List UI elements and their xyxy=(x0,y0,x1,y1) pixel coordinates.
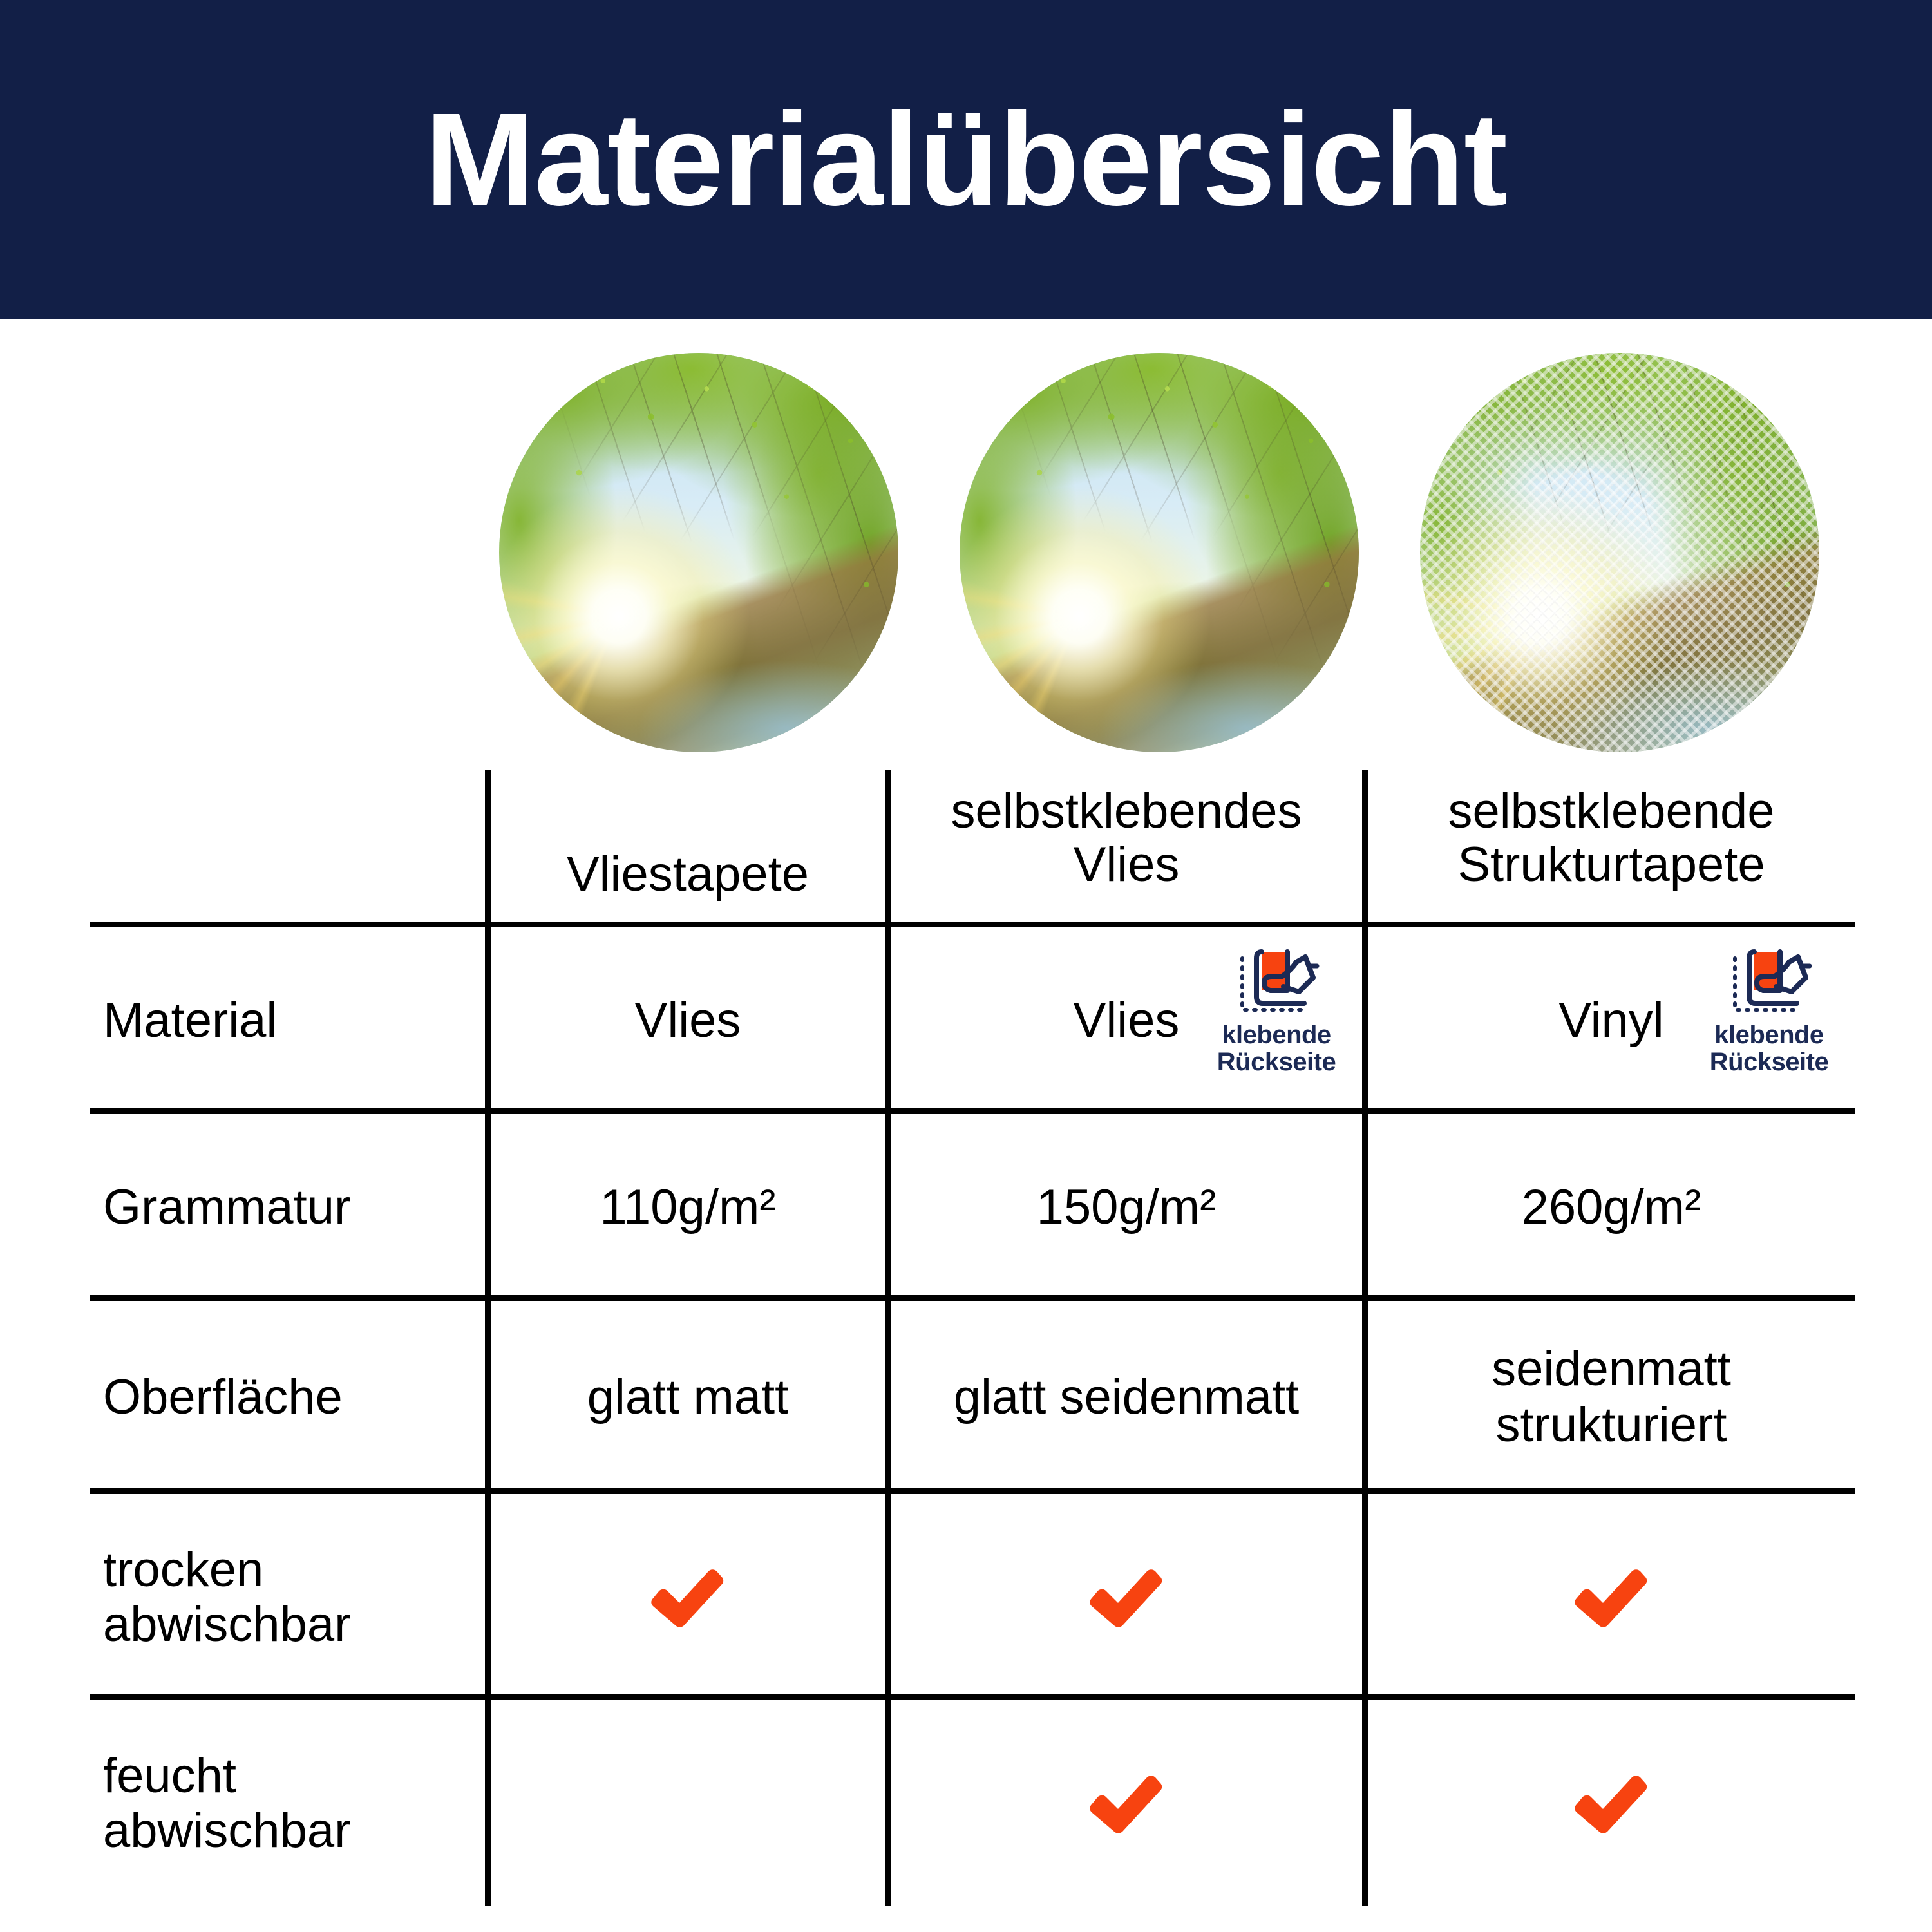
page-header-banner: Materialübersicht xyxy=(0,0,1932,319)
cell-grammatur-selbstklebendes-vlies: 150g/m² xyxy=(885,1114,1362,1301)
row-divider xyxy=(90,1295,1855,1301)
cell-value: 260g/m² xyxy=(1522,1180,1701,1236)
leaf-texture xyxy=(960,353,1359,752)
cell-oberflaeche-strukturtapete: seidenmatt strukturiert xyxy=(1362,1301,1855,1494)
cell-oberflaeche-vliestapete: glatt matt xyxy=(485,1301,885,1494)
cell-oberflaeche-selbstklebendes-vlies: glatt seidenmatt xyxy=(885,1301,1362,1494)
cell-material-strukturtapete: Vinyl xyxy=(1362,927,1855,1114)
peel-backing-hand-icon xyxy=(1228,943,1325,1019)
cell-value: 110g/m² xyxy=(600,1180,775,1236)
check-icon xyxy=(644,1561,732,1633)
table-header-row: Vliestapete selbstklebendes Vlies selbst… xyxy=(90,770,1855,927)
column-header-label: Vliestapete xyxy=(567,848,809,902)
cell-trocken-selbstklebendes-vlies xyxy=(885,1494,1362,1700)
check-icon xyxy=(1083,1767,1170,1839)
cell-value: glatt matt xyxy=(587,1370,789,1426)
material-sample-circle-strukturtapete xyxy=(1420,353,1819,752)
row-divider xyxy=(90,1108,1855,1114)
row-label-cell: feucht abwischbar xyxy=(90,1700,485,1906)
page-title: Materialübersicht xyxy=(425,93,1507,225)
row-divider xyxy=(90,1488,1855,1494)
table-row-trocken-abwischbar: trocken abwischbar xyxy=(90,1494,1855,1700)
cell-value: Vinyl xyxy=(1558,993,1663,1049)
adhesive-backing-badge: klebendeRückseite xyxy=(1205,943,1348,1076)
row-label: Material xyxy=(103,993,277,1048)
peel-backing-hand-icon xyxy=(1721,943,1817,1019)
cell-value: glatt seidenmatt xyxy=(954,1370,1300,1426)
row-label-cell: trocken abwischbar xyxy=(90,1494,485,1700)
table-row-feucht-abwischbar: feucht abwischbar xyxy=(90,1700,1855,1906)
cell-trocken-vliestapete xyxy=(485,1494,885,1700)
check-icon xyxy=(1567,1767,1655,1839)
cell-value: Vlies xyxy=(635,993,741,1049)
row-divider xyxy=(90,1694,1855,1700)
row-label: feucht abwischbar xyxy=(103,1748,473,1858)
check-icon xyxy=(1083,1561,1170,1633)
row-divider xyxy=(90,922,1855,927)
material-sample-circle-selbstklebendes-vlies xyxy=(960,353,1359,752)
cell-trocken-strukturtapete xyxy=(1362,1494,1855,1700)
cell-grammatur-strukturtapete: 260g/m² xyxy=(1362,1114,1855,1301)
cell-value: Vlies xyxy=(1074,993,1180,1049)
leaf-texture xyxy=(499,353,898,752)
column-header-label: selbstklebendes Vlies xyxy=(902,785,1350,892)
header-cell-selbstklebendes-vlies: selbstklebendes Vlies xyxy=(885,770,1362,927)
cell-feucht-strukturtapete xyxy=(1362,1700,1855,1906)
badge-label: klebendeRückseite xyxy=(1217,1021,1336,1076)
header-cell-vliestapete: Vliestapete xyxy=(485,770,885,927)
check-icon xyxy=(1567,1561,1655,1633)
cell-value: seidenmatt strukturiert xyxy=(1379,1341,1843,1453)
row-label-cell: Material xyxy=(90,927,485,1114)
cell-feucht-selbstklebendes-vlies xyxy=(885,1700,1362,1906)
cell-value: 150g/m² xyxy=(1037,1180,1217,1236)
cell-grammatur-vliestapete: 110g/m² xyxy=(485,1114,885,1301)
cell-material-selbstklebendes-vlies: Vlies xyxy=(885,927,1362,1114)
row-label: Grammatur xyxy=(103,1180,350,1235)
header-cell-empty xyxy=(90,770,485,927)
table-row-oberflaeche: Oberfläche glatt matt glatt seidenmatt s… xyxy=(90,1301,1855,1494)
material-sample-circle-vliestapete xyxy=(499,353,898,752)
row-label: trocken abwischbar xyxy=(103,1542,473,1652)
cell-feucht-vliestapete xyxy=(485,1700,885,1906)
table-row-grammatur: Grammatur 110g/m² 150g/m² 260g/m² xyxy=(90,1114,1855,1301)
table-row-material: Material Vlies Vlies xyxy=(90,927,1855,1114)
woven-structure-overlay xyxy=(1420,353,1819,752)
badge-label: klebendeRückseite xyxy=(1710,1021,1828,1076)
cell-material-vliestapete: Vlies xyxy=(485,927,885,1114)
row-label-cell: Grammatur xyxy=(90,1114,485,1301)
row-label-cell: Oberfläche xyxy=(90,1301,485,1494)
header-cell-strukturtapete: selbstklebende Strukturtapete xyxy=(1362,770,1855,927)
column-header-label: selbstklebende Strukturtapete xyxy=(1379,785,1843,892)
row-label: Oberfläche xyxy=(103,1370,343,1425)
material-comparison-table: Vliestapete selbstklebendes Vlies selbst… xyxy=(90,770,1855,1906)
adhesive-backing-badge: klebendeRückseite xyxy=(1698,943,1841,1076)
